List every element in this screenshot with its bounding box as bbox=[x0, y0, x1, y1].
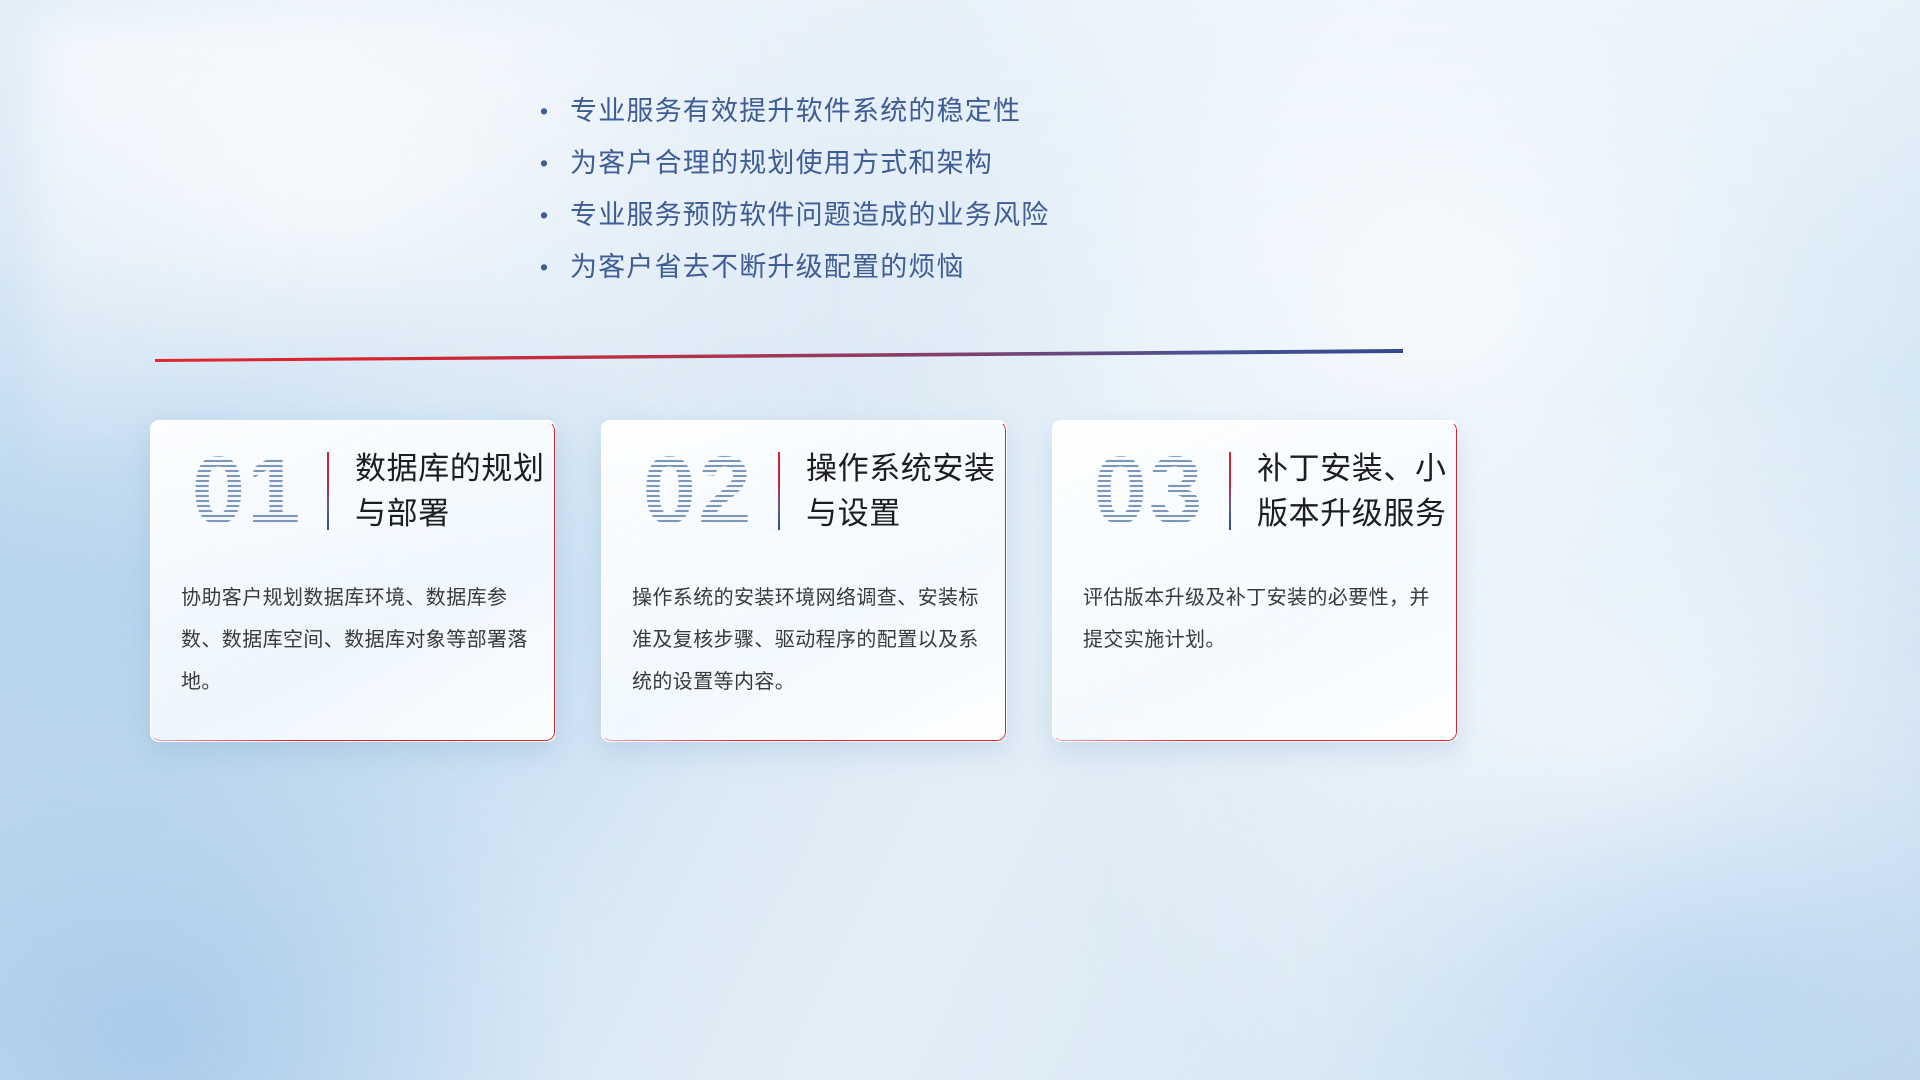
background-glow-bottom-right bbox=[1344, 756, 1920, 1080]
service-card[interactable]: 03 补丁安装、小 版本升级服务 评估版本升级及补丁安装的必要性，并提交实施计划… bbox=[1052, 420, 1458, 742]
card-title: 补丁安装、小 版本升级服务 bbox=[1257, 446, 1447, 536]
section-divider bbox=[155, 349, 1403, 363]
card-number-watermark: 03 bbox=[1085, 435, 1213, 547]
bullet-dot-icon: • bbox=[540, 138, 570, 188]
list-item: • 为客户合理的规划使用方式和架构 bbox=[540, 138, 1300, 190]
card-header: 02 操作系统安装 与设置 bbox=[602, 421, 1006, 561]
service-cards-row: 01 数据库的规划 与部署 协助客户规划数据库环境、数据库参数、数据库空间、数据… bbox=[150, 420, 1460, 745]
divider-shape-icon bbox=[155, 349, 1403, 363]
card-description: 操作系统的安装环境网络调查、安装标准及复核步骤、驱动程序的配置以及系统的设置等内… bbox=[602, 577, 1006, 703]
list-item: • 专业服务预防软件问题造成的业务风险 bbox=[540, 190, 1300, 242]
bullet-dot-icon: • bbox=[540, 86, 570, 136]
list-item: • 为客户省去不断升级配置的烦恼 bbox=[540, 242, 1300, 294]
background-glow-bottom-left bbox=[0, 756, 538, 1080]
bullet-text: 专业服务有效提升软件系统的稳定性 bbox=[570, 86, 1021, 136]
card-number-text: 03 bbox=[1085, 435, 1213, 547]
bullet-dot-icon: • bbox=[540, 242, 570, 292]
list-item: • 专业服务有效提升软件系统的稳定性 bbox=[540, 86, 1300, 138]
service-card[interactable]: 02 操作系统安装 与设置 操作系统的安装环境网络调查、安装标准及复核步骤、驱动… bbox=[601, 420, 1007, 742]
card-number-text: 02 bbox=[634, 435, 762, 547]
card-description: 评估版本升级及补丁安装的必要性，并提交实施计划。 bbox=[1053, 577, 1457, 661]
bullet-dot-icon: • bbox=[540, 190, 570, 240]
card-title: 数据库的规划 与部署 bbox=[355, 446, 545, 536]
card-description: 协助客户规划数据库环境、数据库参数、数据库空间、数据库对象等部署落地。 bbox=[151, 577, 555, 703]
bullet-text: 为客户合理的规划使用方式和架构 bbox=[570, 138, 993, 188]
card-number-watermark: 01 bbox=[183, 435, 311, 547]
card-number-text: 01 bbox=[183, 435, 311, 547]
bullet-text: 为客户省去不断升级配置的烦恼 bbox=[570, 242, 965, 292]
card-title-divider bbox=[327, 452, 329, 530]
card-header: 03 补丁安装、小 版本升级服务 bbox=[1053, 421, 1457, 561]
card-title: 操作系统安装 与设置 bbox=[806, 446, 996, 536]
card-header: 01 数据库的规划 与部署 bbox=[151, 421, 555, 561]
card-title-divider bbox=[1229, 452, 1231, 530]
bullet-text: 专业服务预防软件问题造成的业务风险 bbox=[570, 190, 1049, 240]
service-card[interactable]: 01 数据库的规划 与部署 协助客户规划数据库环境、数据库参数、数据库空间、数据… bbox=[150, 420, 556, 742]
benefits-bullet-list: • 专业服务有效提升软件系统的稳定性 • 为客户合理的规划使用方式和架构 • 专… bbox=[540, 86, 1300, 294]
card-number-watermark: 02 bbox=[634, 435, 762, 547]
card-title-divider bbox=[778, 452, 780, 530]
